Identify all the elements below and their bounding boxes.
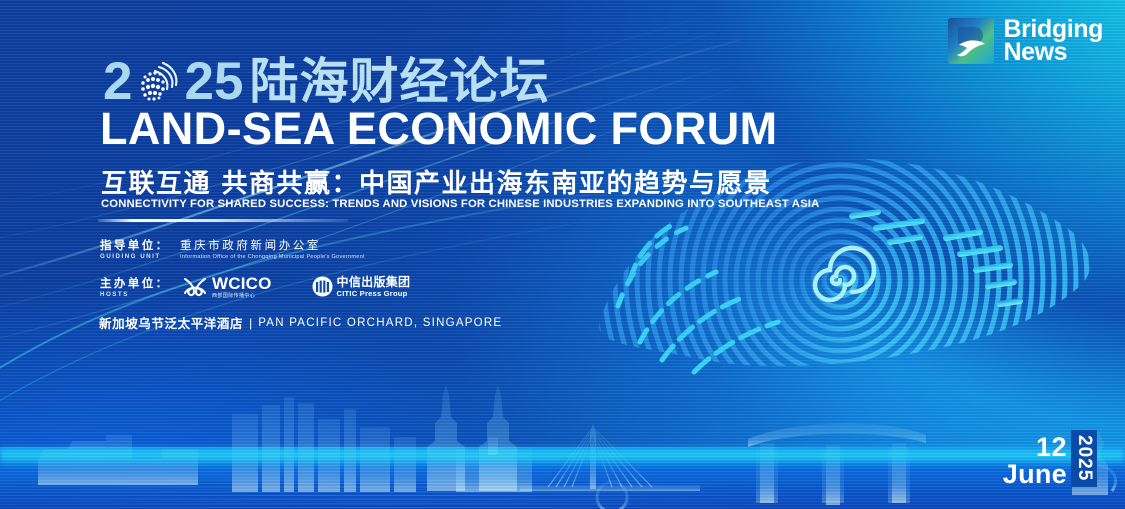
hosts-label-en: HOSTS	[100, 291, 172, 298]
subtitle-en: CONNECTIVITY FOR SHARED SUCCESS: TRENDS …	[101, 198, 819, 210]
bridging-news-logo-icon	[948, 18, 994, 64]
event-date-year: 2025	[1071, 430, 1097, 487]
guiding-unit-label: 指导单位： GUIDING UNIT	[100, 238, 172, 260]
event-date-badge: 12 June 2025	[1003, 430, 1097, 487]
brand-logo[interactable]: Bridging News	[948, 18, 1103, 65]
brand-line-2: News	[1003, 41, 1103, 64]
wcico-name: WCICO	[212, 275, 272, 292]
host-logo-wcico[interactable]: WCICO 西部国际传播中心	[182, 275, 272, 299]
guiding-unit-value: 重庆市政府新闻办公室 Information Office of the Cho…	[180, 238, 365, 260]
year-digits-right: 25	[184, 55, 243, 108]
globe-dots-icon	[133, 57, 183, 107]
year-digit-left: 2	[103, 55, 132, 108]
section-divider	[98, 219, 348, 222]
venue-cn: 新加坡乌节泛太平洋酒店	[99, 313, 243, 332]
wcico-logo-icon	[182, 276, 208, 298]
host-logo-citic[interactable]: 中信出版集团 CITIC Press Group	[312, 276, 411, 298]
wcico-sub: 西部国际传播中心	[212, 294, 272, 299]
hosts-label: 主办单位： HOSTS	[100, 276, 172, 298]
venue-line: 新加坡乌节泛太平洋酒店 | PAN PACIFIC ORCHARD, SINGA…	[99, 313, 502, 332]
citic-sub: CITIC Press Group	[337, 290, 411, 298]
guiding-unit-label-cn: 指导单位：	[100, 238, 172, 252]
event-date-day: 12	[1036, 434, 1067, 460]
guiding-unit-value-cn: 重庆市政府新闻办公室	[180, 238, 365, 252]
subtitle-cn: 互联互通 共商共赢：中国产业出海东南亚的趋势与愿景	[101, 163, 772, 200]
venue-separator: |	[249, 316, 252, 330]
headline-cn-title: 陆海财经论坛	[249, 57, 549, 106]
event-banner: Bridging News 2	[0, 0, 1125, 509]
headline-en-title: LAND-SEA ECONOMIC FORUM	[100, 106, 778, 151]
headline-year-row: 2	[103, 53, 549, 109]
hosts-row: 主办单位： HOSTS WCICO 西部国际传播中心	[100, 275, 410, 299]
guiding-unit-label-en: GUIDING UNIT	[100, 253, 172, 260]
guiding-unit-value-en: Information Office of the Chongqing Muni…	[180, 254, 365, 260]
citic-name: 中信出版集团	[337, 276, 411, 288]
guiding-unit-row: 指导单位： GUIDING UNIT 重庆市政府新闻办公室 Informatio…	[100, 238, 365, 260]
hosts-label-cn: 主办单位：	[100, 276, 172, 290]
citic-press-logo-icon	[312, 276, 333, 297]
venue-en: PAN PACIFIC ORCHARD, SINGAPORE	[258, 317, 502, 329]
event-date-month: June	[1003, 461, 1067, 487]
